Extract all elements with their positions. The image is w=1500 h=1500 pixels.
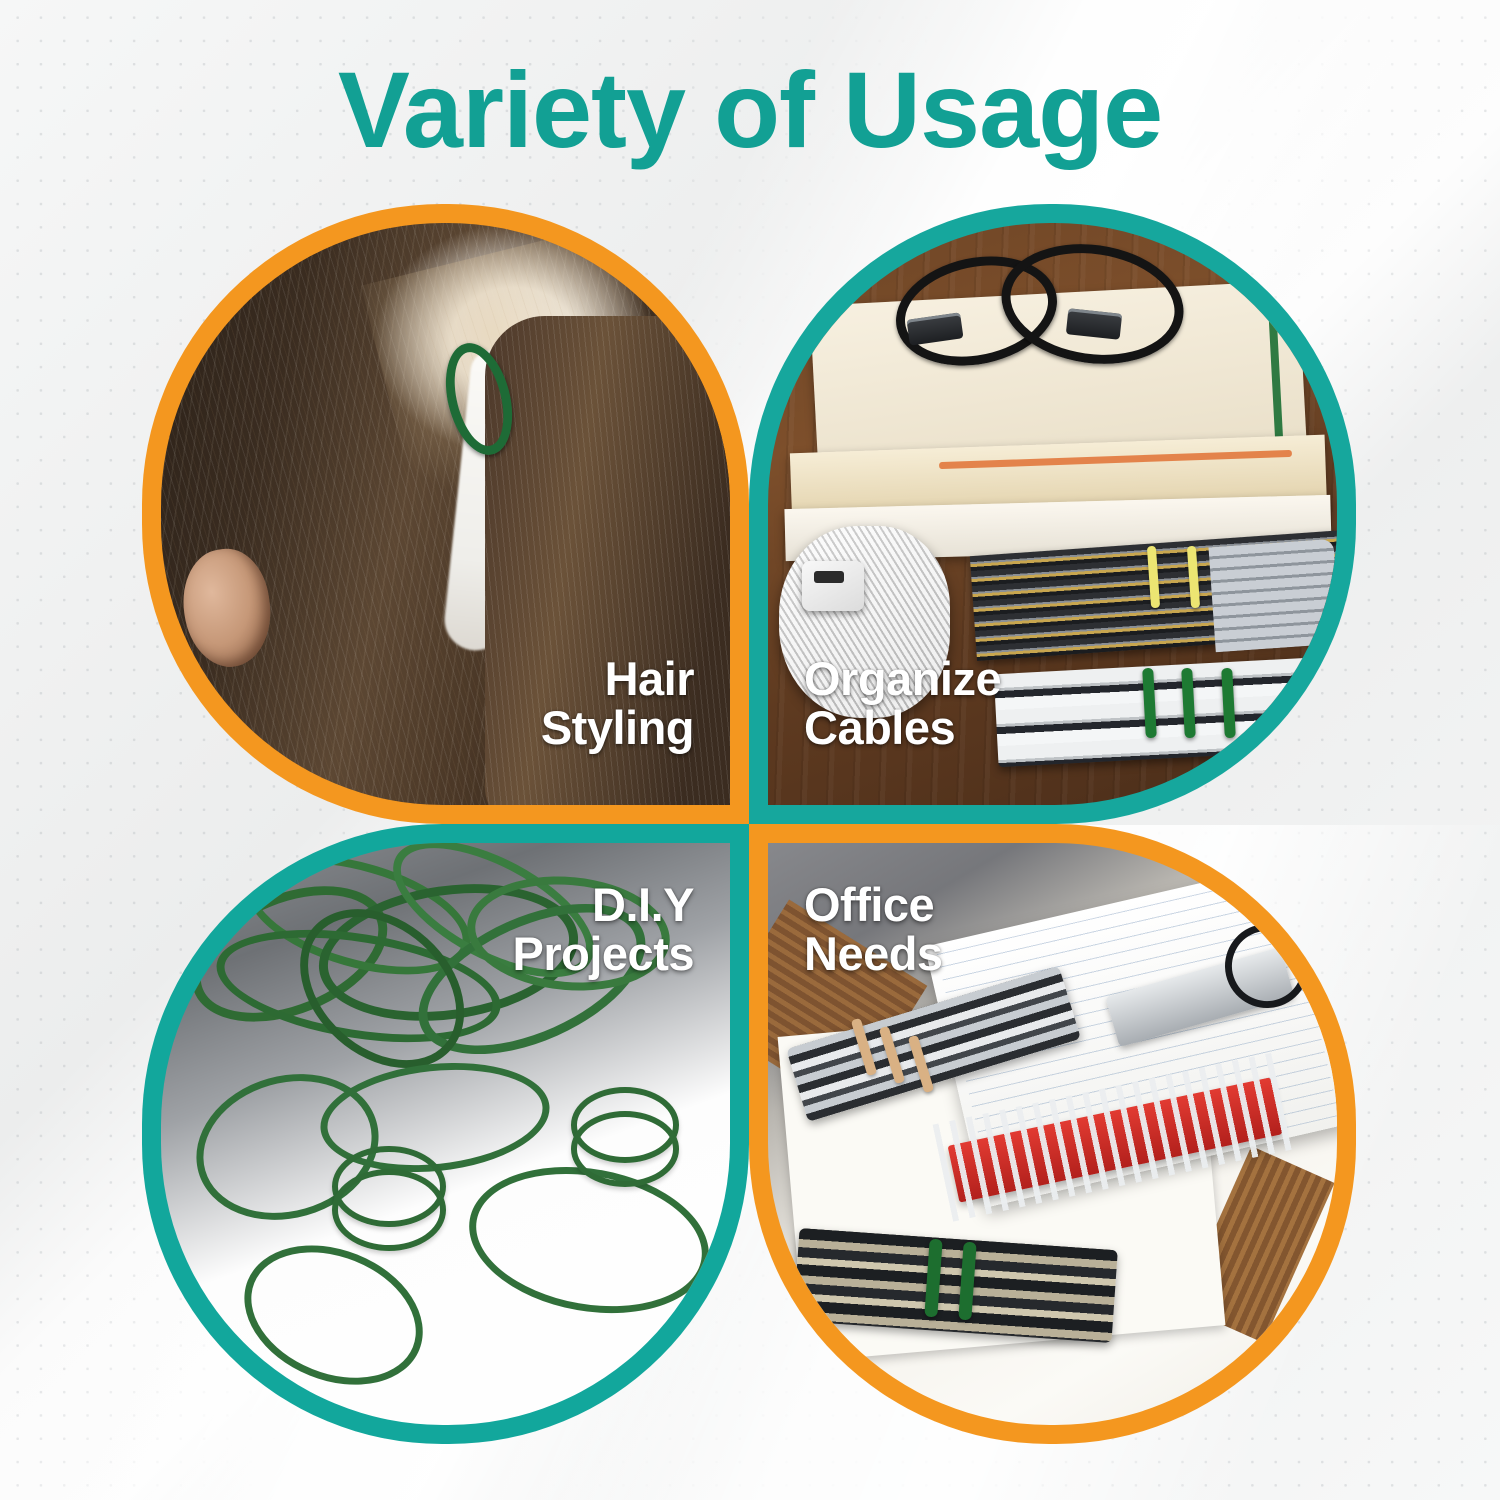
petal-label-diy-projects: D.I.Y Projects <box>513 881 694 979</box>
petal-organize-cables[interactable]: Organize Cables <box>749 204 1356 824</box>
usb-cable-bundle <box>882 240 1212 362</box>
petal-office-needs[interactable]: Office Needs <box>749 824 1356 1444</box>
petal-diy-projects-image: D.I.Y Projects <box>161 843 730 1425</box>
petal-hair-styling[interactable]: Hair Styling <box>142 204 749 824</box>
petal-label-hair-styling: Hair Styling <box>541 655 694 753</box>
charger-brick <box>802 561 864 611</box>
petal-grid: Hair Styling <box>142 204 1356 1444</box>
usb-cable-loop-right <box>993 233 1191 376</box>
coiled-band-right-2 <box>571 1111 680 1187</box>
page-title: Variety of Usage <box>0 52 1500 169</box>
petal-office-needs-image: Office Needs <box>768 843 1337 1425</box>
pencil-tips <box>1208 539 1337 652</box>
petal-label-organize-cables: Organize Cables <box>804 655 1001 753</box>
petal-organize-cables-image: Organize Cables <box>768 223 1337 805</box>
petal-label-office-needs: Office Needs <box>804 881 943 979</box>
petal-diy-projects[interactable]: D.I.Y Projects <box>142 824 749 1444</box>
petal-hair-styling-image: Hair Styling <box>161 223 730 805</box>
infographic-page: Variety of Usage Hair Styling <box>0 0 1500 1500</box>
coiled-band-center-2 <box>332 1169 446 1251</box>
marker-bundle <box>993 656 1337 767</box>
